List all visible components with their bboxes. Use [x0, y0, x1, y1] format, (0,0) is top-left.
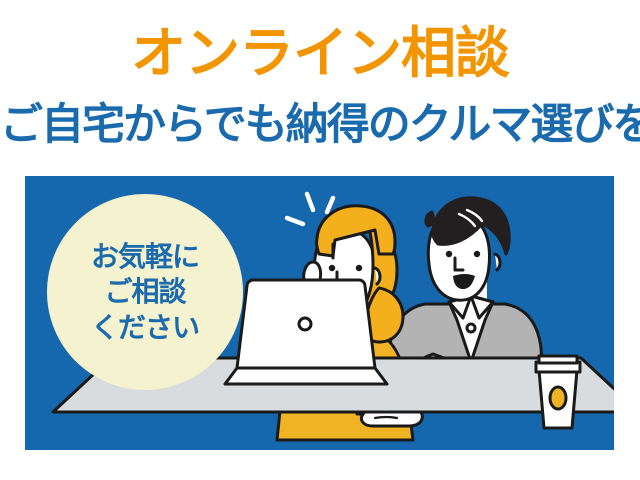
page-subtitle: ご自宅からでも納得のクルマ選びを: [0, 104, 640, 147]
bubble-line-2: ご相談: [104, 275, 185, 308]
coffee-cup: [536, 356, 580, 428]
online-consultation-banner: オンライン相談 ご自宅からでも納得のクルマ選びを: [0, 0, 640, 480]
illustration-panel: お気軽に ご相談 ください: [25, 176, 614, 450]
bubble-line-1: お気軽に: [91, 240, 199, 273]
page-title: オンライン相談: [0, 26, 640, 81]
speech-bubble: お気軽に ご相談 ください: [47, 194, 243, 390]
bubble-line-3: ください: [91, 311, 199, 344]
laptop: [225, 280, 387, 384]
